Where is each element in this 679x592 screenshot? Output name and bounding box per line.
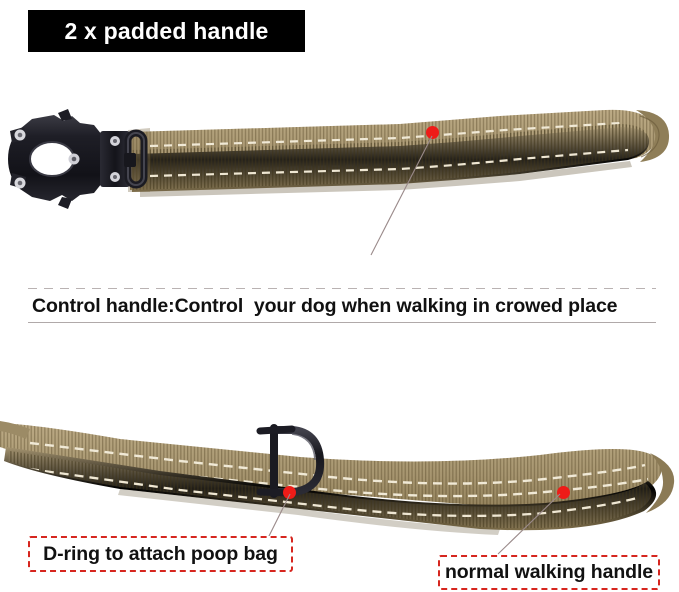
frog-clip-hardware (2, 105, 152, 213)
caption-rule-bottom (28, 322, 656, 323)
title-banner-text: 2 x padded handle (64, 18, 268, 45)
callout-walking-handle: normal walking handle (438, 555, 660, 590)
callout-d-ring: D-ring to attach poop bag (28, 536, 293, 572)
infographic-canvas: 2 x padded handle (0, 0, 679, 592)
leader-line-control-handle (360, 130, 450, 260)
leader-line-d-ring (262, 492, 302, 542)
title-banner: 2 x padded handle (28, 10, 305, 52)
callout-walking-handle-text: normal walking handle (445, 561, 653, 584)
caption-rule-top (28, 288, 656, 289)
caption-control-handle: Control handle:Control your dog when wal… (32, 292, 656, 320)
callout-d-ring-text: D-ring to attach poop bag (43, 543, 278, 566)
caption-control-handle-text: Control handle:Control your dog when wal… (32, 295, 617, 318)
leader-line-walking-handle (492, 492, 572, 558)
